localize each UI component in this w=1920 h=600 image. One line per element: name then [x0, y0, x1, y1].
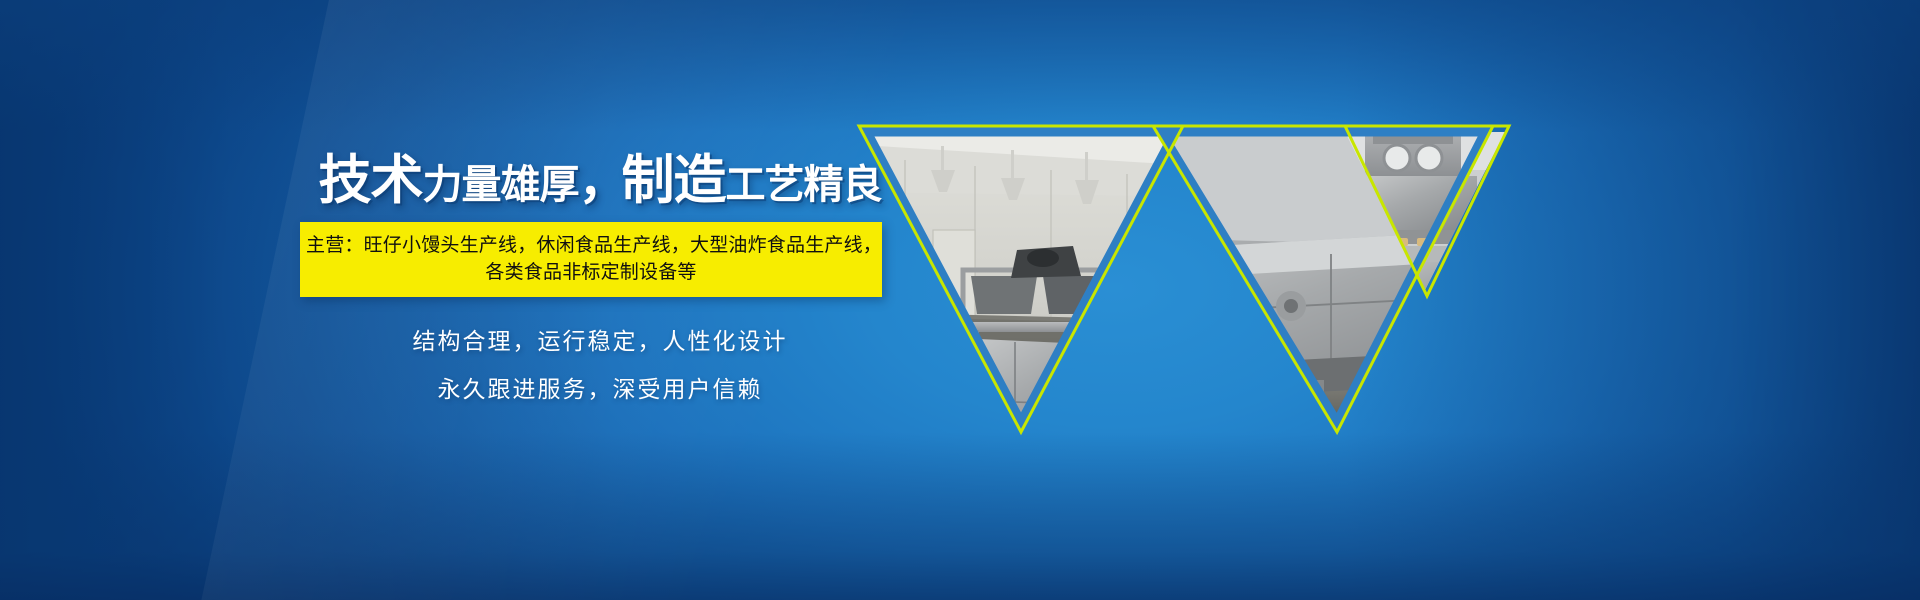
highlight-line-2: 各类食品非标定制设备等 [306, 259, 876, 286]
banner-text-block: 技术力量雄厚，制造工艺精良 主营：旺仔小馒头生产线，休闲食品生产线，大型油炸食品… [300, 150, 900, 419]
main-products-highlight-box: 主营：旺仔小馒头生产线，休闲食品生产线，大型油炸食品生产线， 各类食品非标定制设… [300, 222, 882, 297]
slogan-list: 结构合理，运行稳定，人性化设计 永久跟进服务，深受用户信赖 [300, 323, 900, 407]
slogan-line-2: 永久跟进服务，深受用户信赖 [300, 371, 900, 407]
headline-segment-1: 技术 [318, 151, 422, 210]
triangle-photo-collage [845, 100, 1525, 440]
headline-segment-2: 力量雄厚 [422, 163, 578, 207]
promo-banner: 技术力量雄厚，制造工艺精良 主营：旺仔小馒头生产线，休闲食品生产线，大型油炸食品… [0, 0, 1920, 600]
headline-segment-3: ， [578, 155, 621, 209]
highlight-line-1: 主营：旺仔小馒头生产线，休闲食品生产线，大型油炸食品生产线， [306, 232, 876, 259]
slogan-line-1: 结构合理，运行稳定，人性化设计 [300, 323, 900, 359]
control-panel [901, 310, 949, 440]
banner-headline: 技术力量雄厚，制造工艺精良 [300, 150, 900, 212]
headline-segment-4: 制造 [622, 151, 726, 210]
